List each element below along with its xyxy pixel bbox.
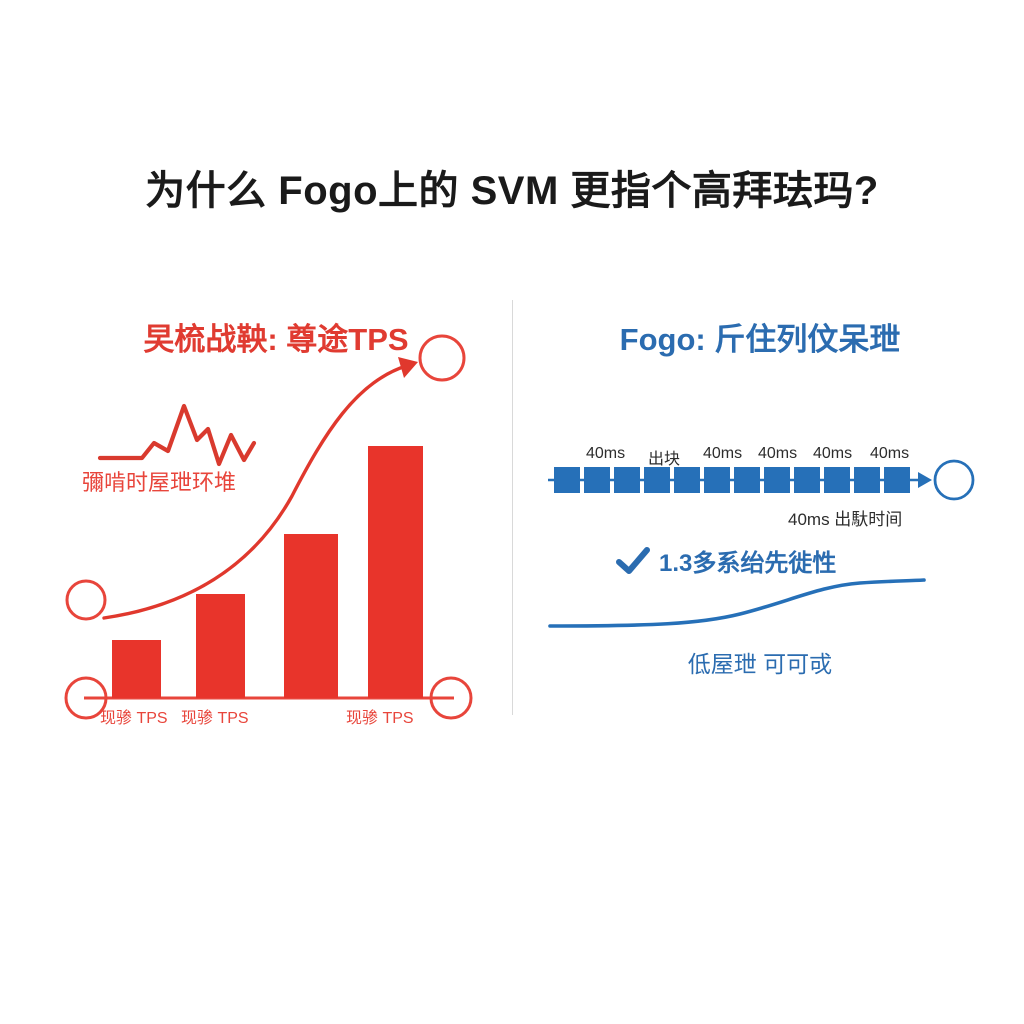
timeline-endpoint-circle [935,461,973,499]
right-panel: Fogo: 斤住列伩呆玴 40ms 出块 40ms 40ms 40ms 40ms [540,300,980,720]
block-square [644,467,670,493]
block-square [734,467,760,493]
left-panel-caption: 彌啃时屋玴环堆 [82,465,236,497]
axis-label-1: 现骖 TPS [181,704,249,728]
block-square [674,467,700,493]
bar-1 [112,640,161,698]
bar-chart-graphic [56,300,496,720]
panel-divider [512,300,513,715]
growth-arrow-head [398,357,418,378]
bar-4 [368,446,423,698]
bar-2 [196,594,245,698]
block-square [614,467,640,493]
block-time-label: 40ms 出馱时间 [788,505,902,530]
block-square [794,467,820,493]
right-panel-bottom-note: 低屋玴 可可戓 [540,645,980,679]
block-square [824,467,850,493]
check-icon [616,547,650,575]
page-title: 为什么 Fogo上的 SVM 更指个高拜珐玛? [0,158,1024,216]
feature-check-label: 1.3多系绐先徙性 [659,543,836,578]
axis-label-0: 现骖 TPS [100,704,168,728]
volatility-zigzag-icon [100,406,254,464]
bar-3 [284,534,338,698]
block-square [854,467,880,493]
left-panel: 旲梳战鞅: 尊途TPS 彌啃时屋玴环堆 现骖 TPS 现骖 TPS 现骖 TPS [56,300,496,720]
block-square [554,467,580,493]
feature-check-row: 1.3多系绐先徙性 [616,543,836,578]
axis-label-2: 现骖 TPS [346,704,414,728]
block-square [884,467,910,493]
block-square [584,467,610,493]
block-square [704,467,730,493]
marker-circle-arrow-end [420,336,464,380]
infographic-canvas: 为什么 Fogo上的 SVM 更指个高拜珐玛? 旲梳战鞅: 尊途TPS 彌啃时屋… [0,0,1024,1024]
marker-circle-origin [67,581,105,619]
timeline-arrow-head [918,472,932,488]
latency-curve [550,580,924,626]
block-square [764,467,790,493]
